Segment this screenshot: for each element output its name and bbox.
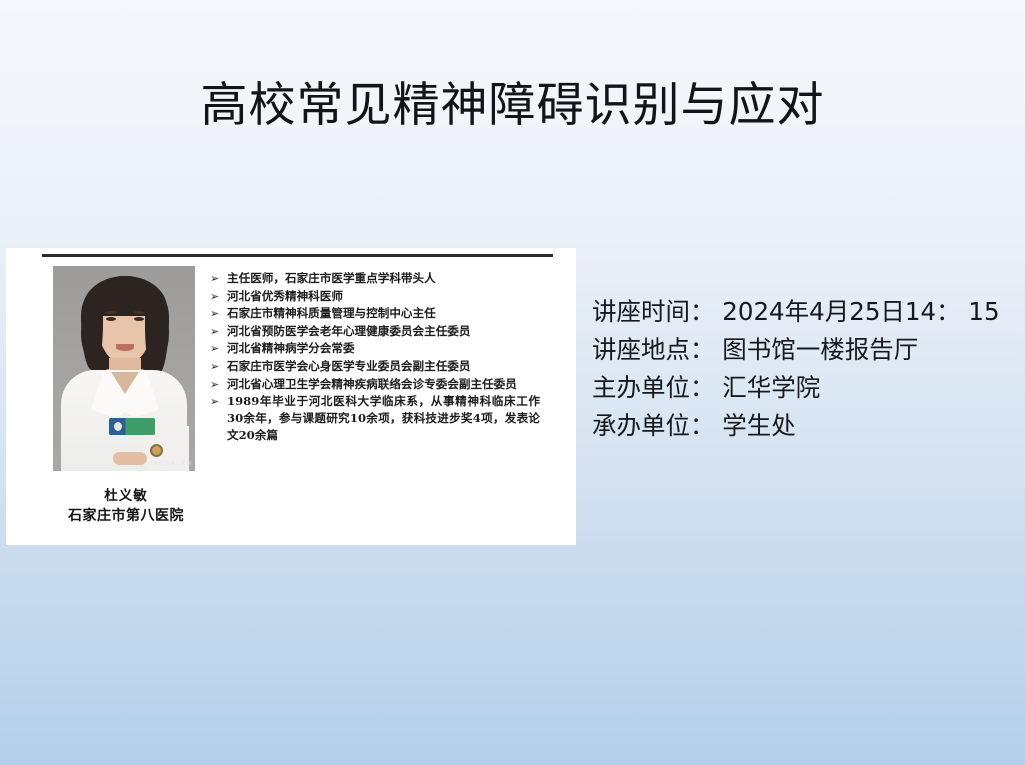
arrow-bullet-icon: ➢	[210, 323, 227, 340]
list-item: ➢ 1989年毕业于河北医科大学临床系，从事精神科临床工作30余年，参与课题研究…	[210, 393, 540, 444]
lecture-location-line: 讲座地点： 图书馆一楼报告厅	[592, 331, 1012, 369]
arrow-bullet-icon: ➢	[210, 288, 227, 305]
arrow-bullet-icon: ➢	[210, 358, 227, 375]
list-item: ➢ 石家庄市精神科质量管理与控制中心主任	[210, 305, 540, 322]
list-item: ➢ 河北省心理卫生学会精神疾病联络会诊专委会副主任委员	[210, 376, 540, 393]
page-title: 高校常见精神障碍识别与应对	[0, 78, 1025, 134]
arrow-bullet-icon: ➢	[210, 376, 227, 393]
speaker-profile-card: 石家庄市第八医院 ➢ 主任医师，石家庄市医学重点学科带头人 ➢ 河北省优秀精神科…	[6, 248, 576, 545]
card-divider-rule	[42, 254, 553, 257]
arrow-bullet-icon: ➢	[210, 340, 227, 357]
speaker-caption: 杜义敏 石家庄市第八医院	[36, 486, 216, 527]
credential-text: 河北省心理卫生学会精神疾病联络会诊专委会副主任委员	[227, 376, 540, 393]
credential-text: 石家庄市精神科质量管理与控制中心主任	[227, 305, 540, 322]
portrait-brow-left	[105, 311, 117, 314]
portrait-watermark: 石家庄市第八医院	[148, 460, 192, 467]
credential-text: 石家庄市医学会心身医学专业委员会副主任委员	[227, 358, 540, 375]
list-item: ➢ 石家庄市医学会心身医学专业委员会副主任委员	[210, 358, 540, 375]
portrait-hand	[113, 452, 147, 465]
portrait-mouth	[116, 344, 134, 351]
speaker-name: 杜义敏	[36, 486, 216, 506]
arrow-bullet-icon: ➢	[210, 393, 227, 410]
list-item: ➢ 河北省预防医学会老年心理健康委员会主任委员	[210, 323, 540, 340]
portrait-hair-front	[83, 276, 167, 316]
credential-text: 河北省预防医学会老年心理健康委员会主任委员	[227, 323, 540, 340]
list-item: ➢ 河北省精神病学分会常委	[210, 340, 540, 357]
portrait-wristwatch	[150, 444, 163, 457]
list-item: ➢ 主任医师，石家庄市医学重点学科带头人	[210, 270, 540, 287]
lecture-info-block: 讲座时间： 2024年4月25日14： 15 讲座地点： 图书馆一楼报告厅 主办…	[592, 293, 1012, 445]
credential-text: 主任医师，石家庄市医学重点学科带头人	[227, 270, 540, 287]
lecture-poster-slide: 高校常见精神障碍识别与应对 石家庄市第八医院	[0, 0, 1025, 765]
credential-text: 河北省优秀精神科医师	[227, 288, 540, 305]
credential-text: 河北省精神病学分会常委	[227, 340, 540, 357]
lecture-time-line: 讲座时间： 2024年4月25日14： 15	[592, 293, 1012, 331]
credential-text: 1989年毕业于河北医科大学临床系，从事精神科临床工作30余年，参与课题研究10…	[227, 393, 540, 444]
portrait-eye-right	[134, 317, 144, 321]
lecture-host-line: 承办单位： 学生处	[592, 407, 1012, 445]
speaker-portrait-photo: 石家庄市第八医院	[53, 266, 195, 471]
arrow-bullet-icon: ➢	[210, 305, 227, 322]
speaker-organization: 石家庄市第八医院	[36, 506, 216, 527]
portrait-brow-right	[133, 311, 145, 314]
portrait-eye-left	[106, 317, 116, 321]
list-item: ➢ 河北省优秀精神科医师	[210, 288, 540, 305]
lecture-organizer-line: 主办单位： 汇华学院	[592, 369, 1012, 407]
portrait-badge-photo	[114, 422, 122, 431]
credential-list: ➢ 主任医师，石家庄市医学重点学科带头人 ➢ 河北省优秀精神科医师 ➢ 石家庄市…	[210, 270, 540, 445]
arrow-bullet-icon: ➢	[210, 270, 227, 287]
